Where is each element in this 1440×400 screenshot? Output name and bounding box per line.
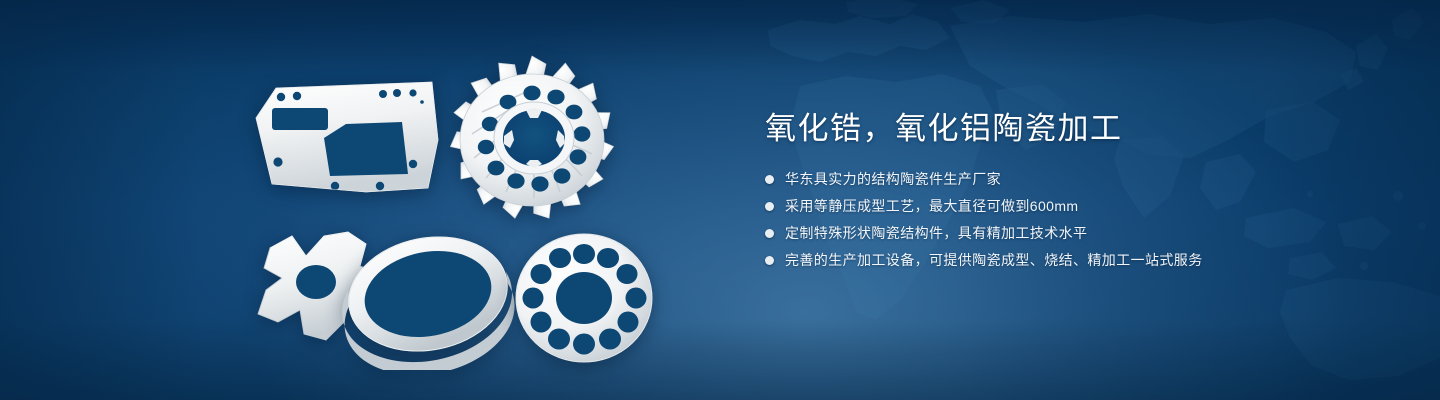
feature-text: 完善的生产加工设备，可提供陶瓷成型、烧结、精加工一站式服务 — [785, 250, 1203, 270]
bullet-dot-icon — [765, 229, 774, 238]
ceramic-impeller — [442, 50, 622, 230]
bullet-dot-icon — [765, 175, 774, 184]
list-item: 华东具实力的结构陶瓷件生产厂家 — [765, 168, 1385, 190]
product-photo-group — [0, 0, 720, 400]
ceramic-plate — [250, 78, 440, 196]
banner-copy: 氧化锆，氧化铝陶瓷加工 华东具实力的结构陶瓷件生产厂家 采用等静压成型工艺，最大… — [765, 108, 1385, 276]
list-item: 完善的生产加工设备，可提供陶瓷成型、烧结、精加工一站式服务 — [765, 249, 1385, 271]
list-item: 采用等静压成型工艺，最大直径可做到600mm — [765, 195, 1385, 217]
bullet-dot-icon — [765, 202, 774, 211]
feature-list: 华东具实力的结构陶瓷件生产厂家 采用等静压成型工艺，最大直径可做到600mm 定… — [765, 168, 1385, 271]
list-item: 定制特殊形状陶瓷结构件，具有精加工技术水平 — [765, 222, 1385, 244]
feature-text: 华东具实力的结构陶瓷件生产厂家 — [785, 169, 1001, 189]
ceramic-ring — [340, 228, 520, 370]
hero-banner: 氧化锆，氧化铝陶瓷加工 华东具实力的结构陶瓷件生产厂家 采用等静压成型工艺，最大… — [0, 0, 1440, 400]
bullet-dot-icon — [765, 256, 774, 265]
feature-text: 定制特殊形状陶瓷结构件，具有精加工技术水平 — [785, 223, 1087, 243]
ceramic-hole-disc — [510, 228, 658, 368]
page-title: 氧化锆，氧化铝陶瓷加工 — [765, 108, 1385, 150]
feature-text: 采用等静压成型工艺，最大直径可做到600mm — [785, 196, 1078, 216]
